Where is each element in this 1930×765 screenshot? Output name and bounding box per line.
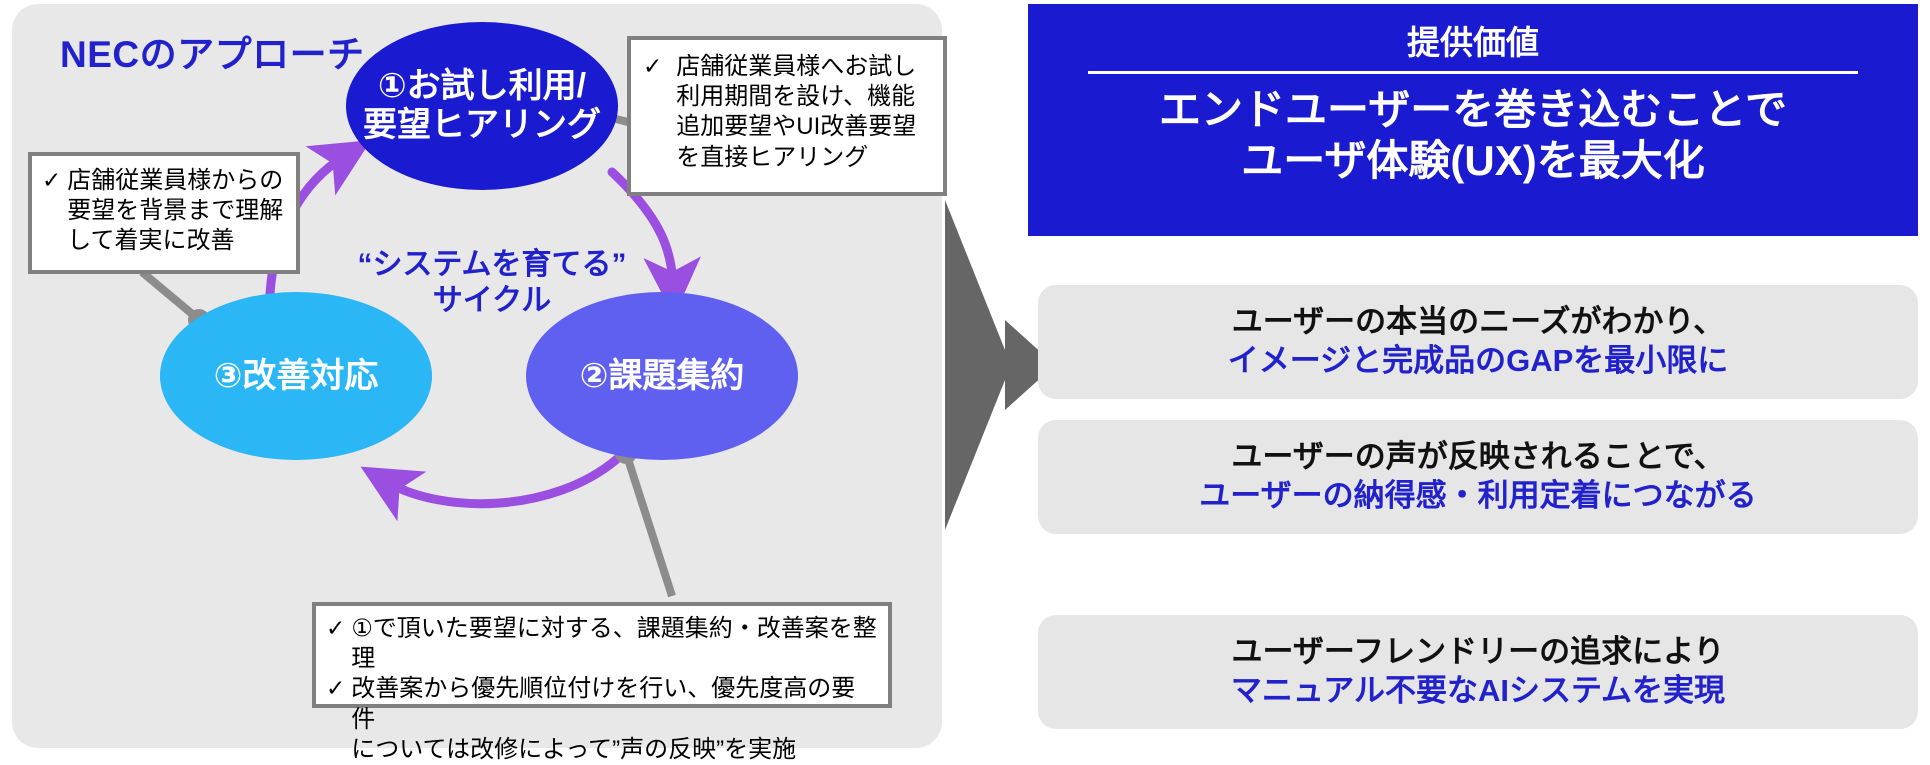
value-header: 提供価値 エンドユーザーを巻き込むことで ユーザ体験(UX)を最大化 bbox=[1028, 4, 1918, 236]
callout-issue-item2-line2: については改修によって”声の反映”を実施 bbox=[351, 735, 878, 765]
check-icon: ✓ bbox=[643, 52, 662, 81]
callout-trial-hearing-line3: 追加要望やUI改善要望 bbox=[676, 112, 933, 142]
cycle-caption-line1: “システムを育てる” bbox=[357, 248, 626, 281]
value-card: ユーザーの本当のニーズがわかり、 イメージと完成品のGAPを最小限に bbox=[1038, 285, 1918, 399]
cycle-node-2-label: ②課題集約 bbox=[580, 357, 745, 396]
value-card-line2: イメージと完成品のGAPを最小限に bbox=[1228, 342, 1729, 381]
cycle-node-1-label-line1: ①お試し利用/ bbox=[378, 67, 586, 105]
value-card: ユーザーフレンドリーの追求により マニュアル不要なAIシステムを実現 bbox=[1038, 615, 1918, 729]
value-card-line1: ユーザーフレンドリーの追求により bbox=[1232, 633, 1725, 672]
callout-improvement-line3: して着実に改善 bbox=[67, 226, 288, 256]
cycle-node-1: ①お試し利用/ 要望ヒアリング bbox=[346, 22, 618, 190]
value-header-main: エンドユーザーを巻き込むことで ユーザ体験(UX)を最大化 bbox=[1028, 84, 1918, 186]
callout-trial-hearing-line1: 店舗従業員様へお試し bbox=[676, 52, 933, 82]
value-card-line2: ユーザーの納得感・利用定着につながる bbox=[1199, 477, 1756, 516]
leader-line-bottom bbox=[627, 456, 672, 596]
value-card-line1: ユーザーの本当のニーズがわかり、 bbox=[1232, 303, 1725, 342]
callout-improvement-understanding: ✓ 店舗従業員様からの 要望を背景まで理解 して着実に改善 bbox=[28, 152, 300, 274]
value-header-divider bbox=[1088, 71, 1858, 74]
approach-panel: NECのアプローチ ①お試し利用/ 要望ヒアリング ②課題集約 ③改善対応 bbox=[12, 4, 942, 748]
check-icon: ✓ bbox=[42, 166, 61, 195]
callout-trial-hearing-line4: を直接ヒアリング bbox=[676, 143, 933, 173]
arrow-2-to-3 bbox=[387, 459, 617, 504]
callout-trial-hearing: ✓ 店舗従業員様へお試し 利用期間を設け、機能 追加要望やUI改善要望 を直接ヒ… bbox=[627, 36, 947, 196]
callout-improvement-line2: 要望を背景まで理解 bbox=[67, 196, 288, 226]
value-card-line1: ユーザーの声が反映されることで、 bbox=[1231, 438, 1724, 477]
value-panel: 提供価値 エンドユーザーを巻き込むことで ユーザ体験(UX)を最大化 ユーザーの… bbox=[1028, 0, 1918, 752]
callout-trial-hearing-line2: 利用期間を設け、機能 bbox=[676, 82, 933, 112]
callout-issue-aggregation: ✓ ①で頂いた要望に対する、課題集約・改善案を整理 ✓ 改善案から優先順位付けを… bbox=[312, 602, 892, 708]
cycle-node-3-label: ③改善対応 bbox=[214, 357, 379, 396]
value-header-main-line1: エンドユーザーを巻き込むことで bbox=[1159, 86, 1787, 133]
callout-improvement-line1: 店舗従業員様からの bbox=[67, 166, 288, 196]
check-icon: ✓ bbox=[326, 674, 345, 703]
check-icon: ✓ bbox=[326, 614, 345, 643]
callout-issue-item1-line1: ①で頂いた要望に対する、課題集約・改善案を整理 bbox=[351, 614, 878, 674]
leader-line-left bbox=[142, 272, 197, 318]
value-header-main-line2: ユーザ体験(UX)を最大化 bbox=[1241, 137, 1704, 184]
cycle-node-1-label-line2: 要望ヒアリング bbox=[363, 106, 601, 144]
value-header-title: 提供価値 bbox=[1028, 22, 1918, 63]
callout-issue-item2-line1: 改善案から優先順位付けを行い、優先度高の要件 bbox=[351, 674, 878, 734]
value-card: ユーザーの声が反映されることで、 ユーザーの納得感・利用定着につながる bbox=[1038, 420, 1918, 534]
page-title: NECのアプローチ bbox=[60, 24, 365, 78]
cycle-caption: “システムを育てる” サイクル bbox=[342, 247, 642, 319]
value-card-line2: マニュアル不要なAIシステムを実現 bbox=[1231, 672, 1725, 711]
cycle-caption-line2: サイクル bbox=[433, 284, 552, 317]
